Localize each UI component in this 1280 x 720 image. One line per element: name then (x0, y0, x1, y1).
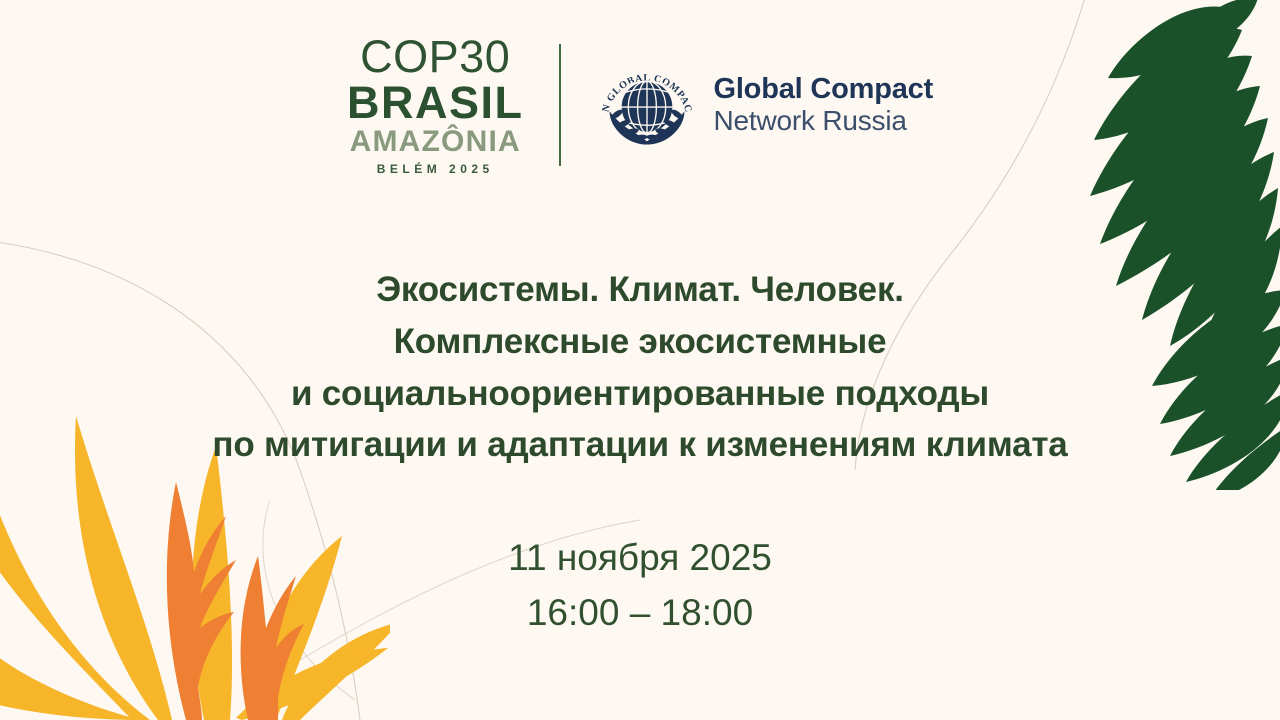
event-datetime: 11 ноября 2025 16:00 – 18:00 (0, 531, 1280, 641)
event-announcement-slide: COP30 BRASIL AMAZÔNIA BELÉM 2025 UN GLOB… (0, 0, 1280, 720)
cop30-logo: COP30 BRASIL AMAZÔNIA BELÉM 2025 (347, 34, 560, 175)
global-compact-logo: UN GLOBAL COMPACT (595, 53, 933, 157)
network-russia-name: Network Russia (713, 105, 933, 136)
event-title-line-1: Экосистемы. Климат. Человек. (0, 264, 1280, 316)
logo-divider (559, 44, 561, 166)
logo-header: COP30 BRASIL AMAZÔNIA BELÉM 2025 UN GLOB… (0, 34, 1280, 175)
event-title-line-3: и социальноориентированные подходы (0, 368, 1280, 420)
global-compact-name: Global Compact (713, 73, 933, 105)
cop30-logo-line-brasil: BRASIL (347, 80, 524, 125)
cop30-logo-line-belem: BELÉM 2025 (377, 163, 494, 175)
event-date: 11 ноября 2025 (0, 531, 1280, 586)
cop30-logo-line-cop30: COP30 (360, 34, 510, 79)
global-compact-wordmark: Global Compact Network Russia (713, 73, 933, 137)
un-globe-laurel-icon: UN GLOBAL COMPACT (595, 53, 699, 157)
event-title-line-2: Комплексные экосистемные (0, 316, 1280, 368)
event-time: 16:00 – 18:00 (0, 586, 1280, 641)
event-title: Экосистемы. Климат. Человек. Комплексные… (0, 264, 1280, 471)
cop30-logo-line-amazonia: AMAZÔNIA (350, 127, 521, 157)
event-title-line-4: по митигации и адаптации к изменениям кл… (0, 419, 1280, 471)
